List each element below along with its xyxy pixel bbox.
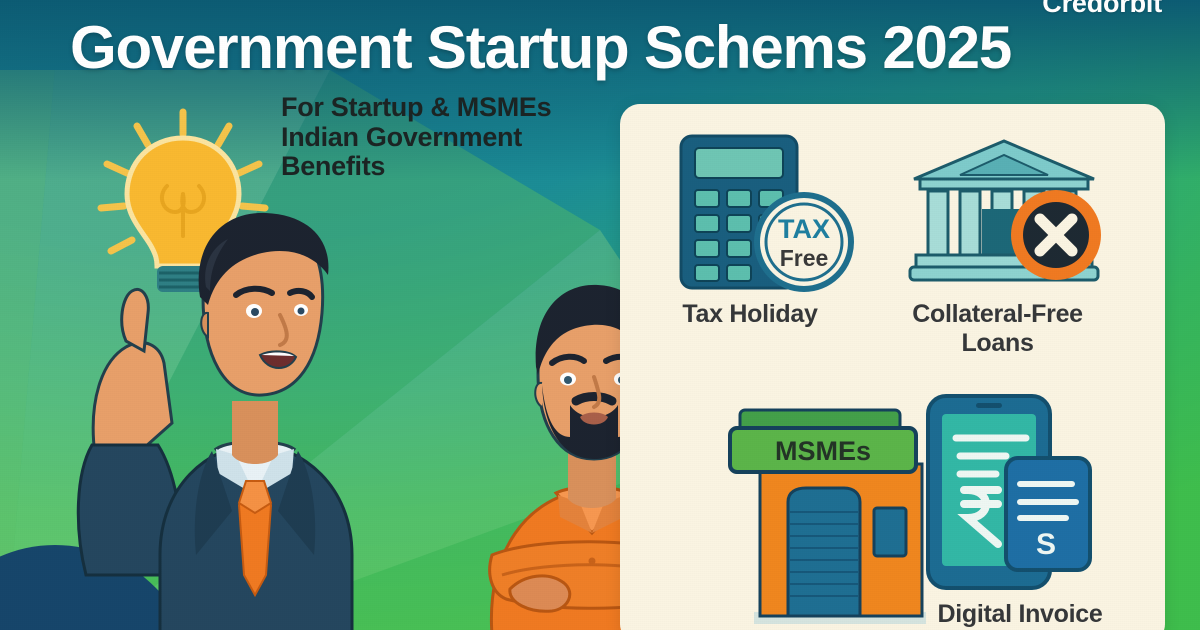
texture-overlay (0, 0, 1200, 630)
poster-canvas: TAX Free MSMEs (0, 0, 1200, 630)
